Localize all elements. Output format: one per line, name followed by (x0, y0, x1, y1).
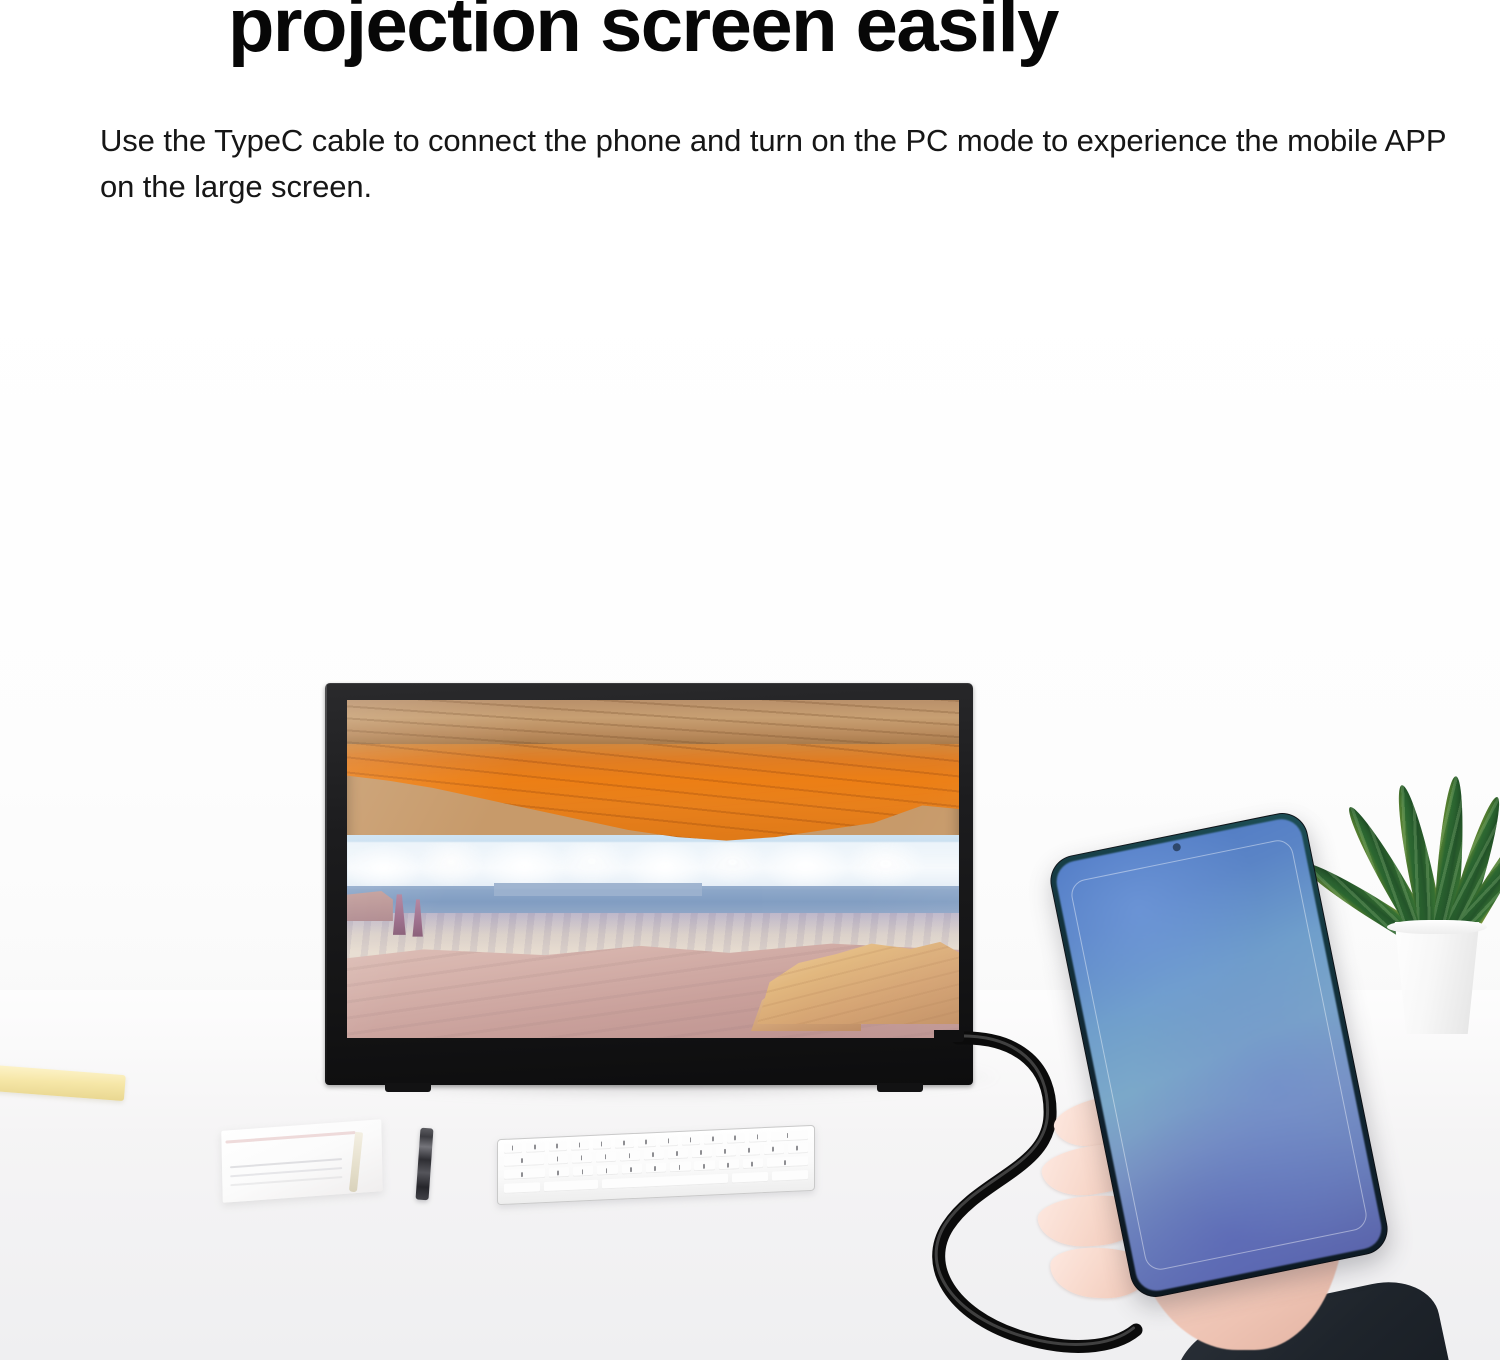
key (571, 1140, 589, 1151)
key (504, 1168, 545, 1180)
key (504, 1182, 540, 1194)
key (593, 1139, 611, 1150)
wallpaper-arch-top-rock (347, 700, 959, 744)
key (719, 1160, 739, 1171)
keyboard (497, 1125, 815, 1205)
monitor-wallpaper (347, 700, 959, 1038)
key (694, 1161, 714, 1172)
key (749, 1132, 767, 1143)
portable-monitor (325, 683, 973, 1085)
stylus (416, 1128, 434, 1201)
ruler (0, 1065, 126, 1101)
key (549, 1167, 569, 1178)
key (526, 1142, 544, 1153)
key (615, 1138, 633, 1149)
key (772, 1170, 808, 1182)
key (660, 1136, 678, 1147)
key (572, 1153, 592, 1164)
key (740, 1145, 760, 1156)
key (596, 1152, 616, 1163)
key (704, 1134, 722, 1145)
key (622, 1164, 642, 1175)
key (597, 1165, 617, 1176)
phone-in-hand (1020, 830, 1440, 1360)
key (620, 1151, 640, 1162)
monitor-foot (385, 1083, 431, 1092)
wallpaper-mesa-block (347, 891, 393, 921)
key (644, 1150, 664, 1161)
key (504, 1155, 544, 1167)
key (732, 1171, 768, 1183)
monitor-screen (347, 700, 959, 1038)
key (764, 1144, 784, 1155)
monitor-foot (877, 1083, 923, 1092)
key (788, 1143, 808, 1154)
key (716, 1147, 736, 1158)
key (504, 1143, 522, 1154)
key (573, 1166, 593, 1177)
key (767, 1156, 808, 1168)
wallpaper-clouds (347, 842, 959, 889)
key (743, 1159, 763, 1170)
key (670, 1162, 690, 1173)
key (771, 1130, 808, 1142)
page-subcopy: Use the TypeC cable to connect the phone… (100, 118, 1456, 210)
key (638, 1137, 656, 1148)
key (548, 1154, 568, 1165)
key (668, 1149, 688, 1160)
spacebar-key (602, 1173, 728, 1189)
key (549, 1141, 567, 1152)
key (692, 1148, 712, 1159)
key (544, 1179, 598, 1191)
product-photo-scene (0, 270, 1500, 1360)
page-headline: projection screen easily (228, 0, 1058, 66)
key (727, 1133, 745, 1144)
key (682, 1135, 700, 1146)
key (646, 1163, 666, 1174)
